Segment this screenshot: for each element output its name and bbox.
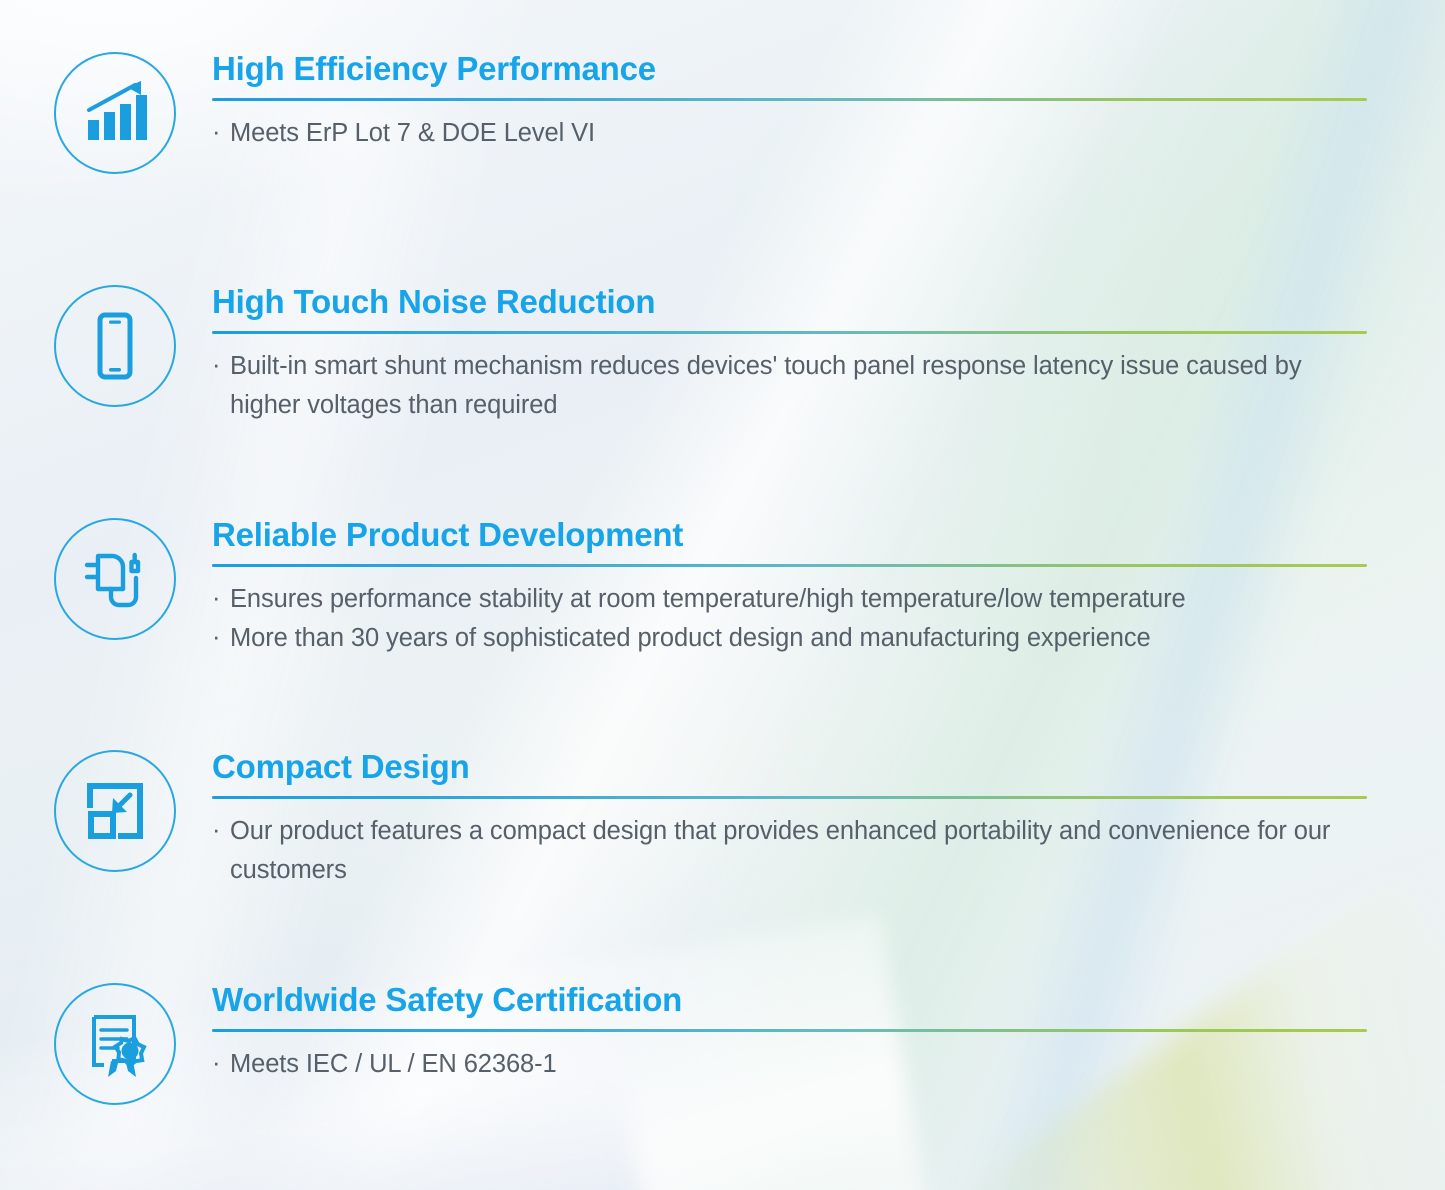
power-adapter-icon	[54, 518, 176, 640]
feature-bullets: Our product features a compact design th…	[212, 812, 1372, 890]
feature-bullets: Ensures performance stability at room te…	[212, 580, 1372, 658]
feature-highlights-page: High Efficiency Performance Meets ErP Lo…	[0, 0, 1445, 1190]
feature-body: Reliable Product Development Ensures per…	[212, 518, 1372, 658]
feature-body: Compact Design Our product features a co…	[212, 750, 1372, 890]
feature-title: Reliable Product Development	[212, 518, 1372, 553]
feature-divider	[212, 1029, 1367, 1032]
feature-title: Compact Design	[212, 750, 1372, 785]
feature-bullets: Meets IEC / UL / EN 62368-1	[212, 1045, 1372, 1084]
feature-divider	[212, 796, 1367, 799]
smartphone-icon	[54, 285, 176, 407]
feature-bullets: Built-in smart shunt mechanism reduces d…	[212, 347, 1372, 425]
feature-divider	[212, 564, 1367, 567]
feature-divider	[212, 331, 1367, 334]
bullet-item: More than 30 years of sophisticated prod…	[212, 619, 1372, 658]
feature-title: High Efficiency Performance	[212, 52, 1372, 87]
bullet-item: Our product features a compact design th…	[212, 812, 1372, 890]
smartphone-glyph	[78, 309, 152, 383]
certificate-seal-icon	[54, 983, 176, 1105]
feature-body: High Touch Noise Reduction Built-in smar…	[212, 285, 1372, 425]
bullet-item: Meets IEC / UL / EN 62368-1	[212, 1045, 1372, 1084]
feature-title: High Touch Noise Reduction	[212, 285, 1372, 320]
feature-title: Worldwide Safety Certification	[212, 983, 1372, 1018]
power-adapter-glyph	[78, 542, 152, 616]
feature-bullets: Meets ErP Lot 7 & DOE Level VI	[212, 114, 1372, 153]
bar-chart-growth-glyph	[78, 76, 152, 150]
feature-divider	[212, 98, 1367, 101]
bar-chart-growth-icon	[54, 52, 176, 174]
compact-resize-glyph	[78, 774, 152, 848]
bullet-item: Meets ErP Lot 7 & DOE Level VI	[212, 114, 1372, 153]
feature-body: High Efficiency Performance Meets ErP Lo…	[212, 52, 1372, 153]
certificate-seal-glyph	[78, 1007, 152, 1081]
compact-resize-icon	[54, 750, 176, 872]
bullet-item: Ensures performance stability at room te…	[212, 580, 1372, 619]
bullet-item: Built-in smart shunt mechanism reduces d…	[212, 347, 1372, 425]
feature-body: Worldwide Safety Certification Meets IEC…	[212, 983, 1372, 1084]
